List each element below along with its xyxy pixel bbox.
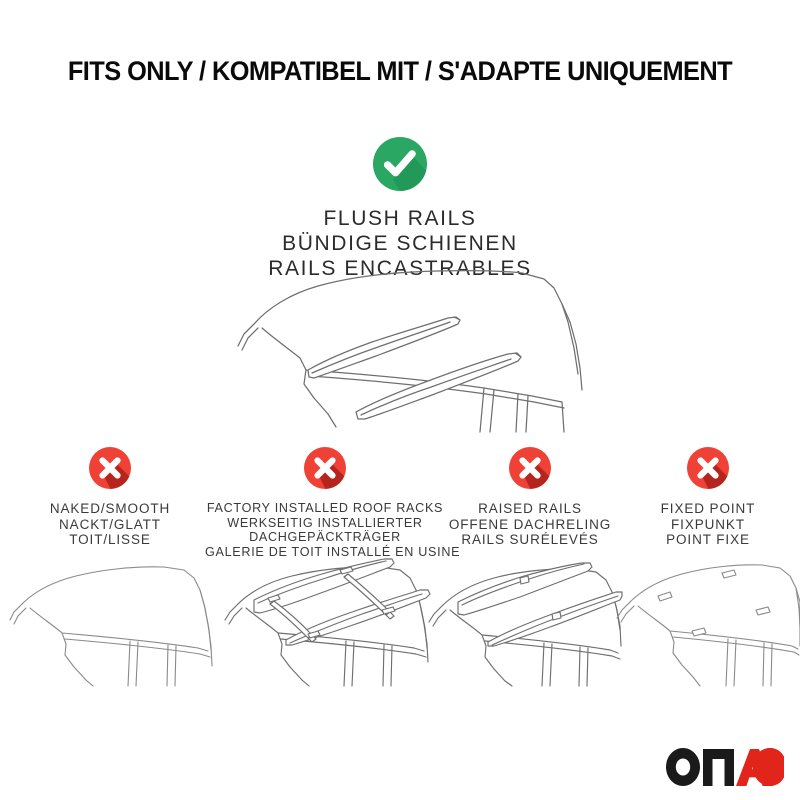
incompatible-option-factory-racks: FACTORY INSTALLED ROOF RACKS WERKSEITIG … <box>205 446 445 559</box>
option-label-fr: RAILS SURÉLEVÉS <box>440 532 620 548</box>
check-circle-icon <box>372 136 428 192</box>
option-label-en: FIXED POINT <box>618 501 798 517</box>
option-label-fr: POINT FIXE <box>618 532 798 548</box>
compatible-label-de: BÜNDIGE SCHIENEN <box>0 231 800 256</box>
car-roof-naked-smooth-illustration <box>8 556 216 686</box>
option-label-de: NACKT/GLATT <box>10 517 210 533</box>
car-roof-factory-racks-illustration <box>220 548 430 686</box>
compatible-label-en: FLUSH RAILS <box>0 206 800 231</box>
option-label-de-2: DACHGEPÄCKTRÄGER <box>205 530 445 545</box>
cross-circle-icon <box>686 446 730 490</box>
incompatible-option-fixed-point: FIXED POINT FIXPUNKT POINT FIXE <box>618 446 798 548</box>
option-label-de: FIXPUNKT <box>618 517 798 533</box>
car-roof-raised-rails-illustration <box>424 552 622 686</box>
option-labels: RAISED RAILS OFFENE DACHRELING RAILS SUR… <box>440 501 620 548</box>
cross-circle-icon <box>508 446 552 490</box>
option-label-en: FACTORY INSTALLED ROOF RACKS <box>205 501 445 516</box>
cross-circle-icon <box>88 446 132 490</box>
option-label-de-1: WERKSEITIG INSTALLIERTER <box>205 516 445 531</box>
option-labels: FIXED POINT FIXPUNKT POINT FIXE <box>618 501 798 548</box>
compatible-option: FLUSH RAILS BÜNDIGE SCHIENEN RAILS ENCAS… <box>0 136 800 281</box>
incompatible-option-naked-smooth: NAKED/SMOOTH NACKT/GLATT TOIT/LISSE <box>10 446 210 548</box>
option-label-en: NAKED/SMOOTH <box>10 501 210 517</box>
option-label-en: RAISED RAILS <box>440 501 620 517</box>
omac-logo: OMAC <box>666 748 784 786</box>
page-title: FITS ONLY / KOMPATIBEL MIT / S'ADAPTE UN… <box>24 56 776 87</box>
option-label-fr: TOIT/LISSE <box>10 532 210 548</box>
option-label-de: OFFENE DACHRELING <box>440 517 620 533</box>
cross-circle-icon <box>303 446 347 490</box>
incompatible-option-raised-rails: RAISED RAILS OFFENE DACHRELING RAILS SUR… <box>440 446 620 548</box>
car-roof-fixed-point-illustration <box>614 552 800 686</box>
option-labels: NAKED/SMOOTH NACKT/GLATT TOIT/LISSE <box>10 501 210 548</box>
car-roof-flush-rails-illustration <box>232 262 588 432</box>
